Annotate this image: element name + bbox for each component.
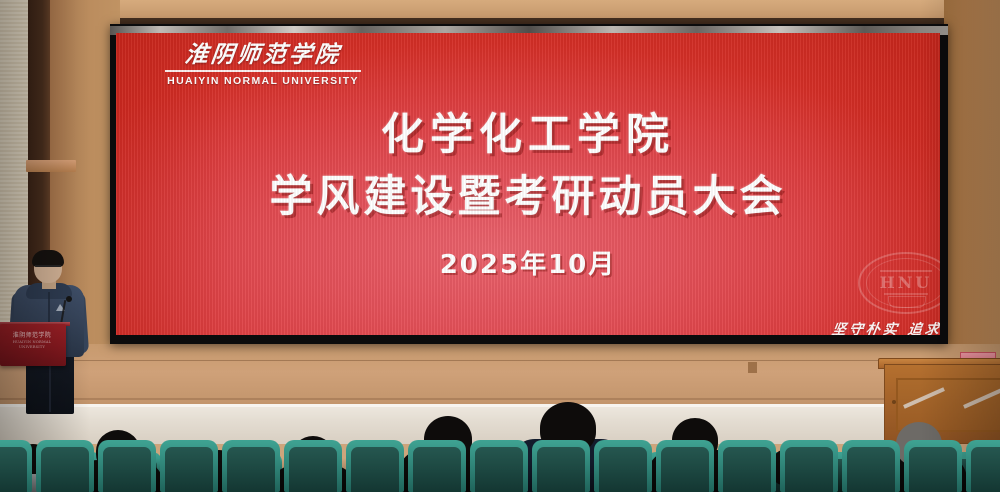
logo-divider-rule <box>165 70 361 72</box>
banner-date: 2025年10月 <box>116 244 940 281</box>
auditorium-seat <box>284 440 342 492</box>
seat-cushion <box>971 447 1000 492</box>
microphone-head-icon <box>66 296 72 302</box>
banner-title-line2: 学风建设暨考研动员大会 <box>116 171 940 223</box>
auditorium-seat <box>346 440 404 492</box>
podium-label-cn: 淮阴师范学院 <box>13 332 51 339</box>
auditorium-seat <box>718 440 776 492</box>
seat-cushion <box>289 447 337 492</box>
seat-cushion <box>227 447 275 492</box>
seat-cushion <box>351 447 399 492</box>
auditorium-seat <box>532 440 590 492</box>
seat-cushion <box>847 447 895 492</box>
seat-cushion <box>661 447 709 492</box>
conference-hall-photo: 淮阴师范学院 HUAIYIN NORMAL UNIVERSITY 化学化工学院 … <box>0 0 1000 492</box>
seat-cushion <box>165 447 213 492</box>
auditorium-seat <box>904 440 962 492</box>
seat-cushion <box>785 447 833 492</box>
podium-label-en: HUAIYIN NORMAL UNIVERSITY <box>3 340 61 351</box>
seat-cushion <box>723 447 771 492</box>
seat-cushion <box>0 447 27 492</box>
banner-title-line1: 化学化工学院 <box>116 109 940 161</box>
seal-book-emblem <box>888 296 926 308</box>
university-seal-watermark: HNU <box>858 252 940 314</box>
auditorium-seat <box>0 440 32 492</box>
auditorium-seat <box>160 440 218 492</box>
seat-cushion <box>413 447 461 492</box>
led-screen: 淮阴师范学院 HUAIYIN NORMAL UNIVERSITY 化学化工学院 … <box>116 33 940 335</box>
seal-top-bar <box>880 270 932 272</box>
banner-titles: 化学化工学院 学风建设暨考研动员大会 2025年10月 <box>116 109 940 281</box>
university-name-cn: 淮阴师范学院 <box>146 42 379 67</box>
speaker-glasses-icon <box>35 265 61 272</box>
university-name-en: HUAIYIN NORMAL UNIVERSITY <box>148 75 378 87</box>
auditorium-seat <box>470 440 528 492</box>
auditorium-seat <box>656 440 714 492</box>
auditorium-seat <box>594 440 652 492</box>
seat-cushion <box>103 447 151 492</box>
auditorium-seat <box>966 440 1000 492</box>
auditorium-seat <box>36 440 94 492</box>
wall-seam-upper <box>0 360 1000 361</box>
seat-cushion <box>537 447 585 492</box>
seat-cushion <box>909 447 957 492</box>
auditorium-seat <box>222 440 280 492</box>
auditorium-seat <box>842 440 900 492</box>
seat-cushion <box>475 447 523 492</box>
left-wall-ledge <box>26 160 76 172</box>
podium-nameplate: 淮阴师范学院 HUAIYIN NORMAL UNIVERSITY <box>3 331 61 351</box>
auditorium-seat <box>408 440 466 492</box>
auditorium-seat <box>98 440 156 492</box>
university-motto: 坚守朴实 追求卓越 <box>830 319 940 335</box>
audience-area <box>0 398 1000 492</box>
auditorium-seat <box>780 440 838 492</box>
seal-bottom-bar <box>884 293 928 295</box>
seat-cushion <box>41 447 89 492</box>
seat-cushion <box>599 447 647 492</box>
wall-fixture <box>748 362 757 373</box>
seal-initials: HNU <box>858 273 940 292</box>
under-screen-wall <box>0 344 1000 406</box>
university-logo: 淮阴师范学院 HUAIYIN NORMAL UNIVERSITY <box>148 42 378 87</box>
